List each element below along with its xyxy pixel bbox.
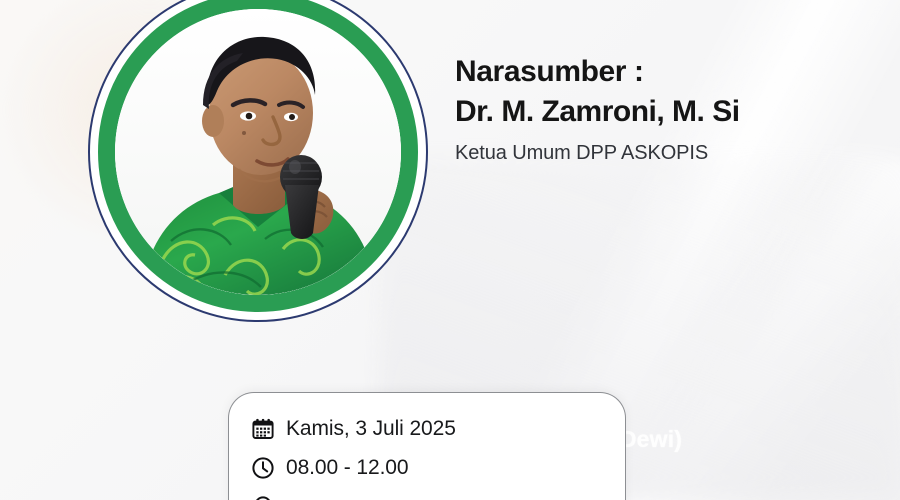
clock-icon xyxy=(251,456,275,480)
event-time-row: 08.00 - 12.00 xyxy=(251,456,408,480)
speaker-photo-illustration xyxy=(115,9,401,295)
speaker-info: Narasumber : Dr. M. Zamroni, M. Si Ketua… xyxy=(455,52,875,165)
speaker-role-label: Narasumber : xyxy=(455,52,875,92)
event-poster: Narasumber : Dr. M. Zamroni, M. Si Ketua… xyxy=(0,0,900,500)
calendar-icon xyxy=(251,417,275,441)
event-date-row: Kamis, 3 Juli 2025 xyxy=(251,417,456,441)
speaker-title: Ketua Umum DPP ASKOPIS xyxy=(455,142,875,165)
speaker-portrait-medallion xyxy=(88,0,428,322)
event-time-text: 08.00 - 12.00 xyxy=(286,456,408,480)
speaker-photo xyxy=(115,9,401,295)
event-location-row xyxy=(251,495,286,500)
event-date-text: Kamis, 3 Juli 2025 xyxy=(286,417,456,441)
speaker-name: Dr. M. Zamroni, M. Si xyxy=(455,92,875,132)
event-details-card: Kamis, 3 Juli 2025 08.00 - 12.00 xyxy=(228,392,626,500)
location-pin-icon xyxy=(251,495,275,500)
